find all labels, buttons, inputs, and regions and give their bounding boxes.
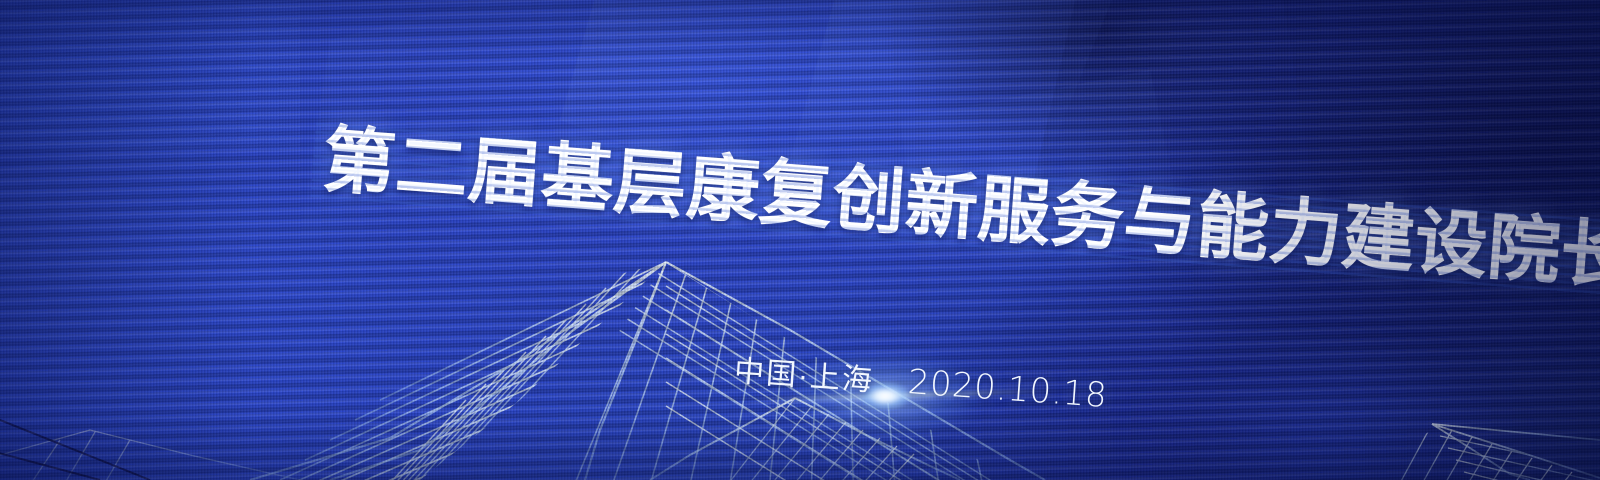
polygon-facets-graphic	[0, 0, 1600, 480]
conference-backdrop: 第二届基层康复创新服务与能力建设院长论坛 中国·上海2020.10.18	[0, 0, 1600, 480]
